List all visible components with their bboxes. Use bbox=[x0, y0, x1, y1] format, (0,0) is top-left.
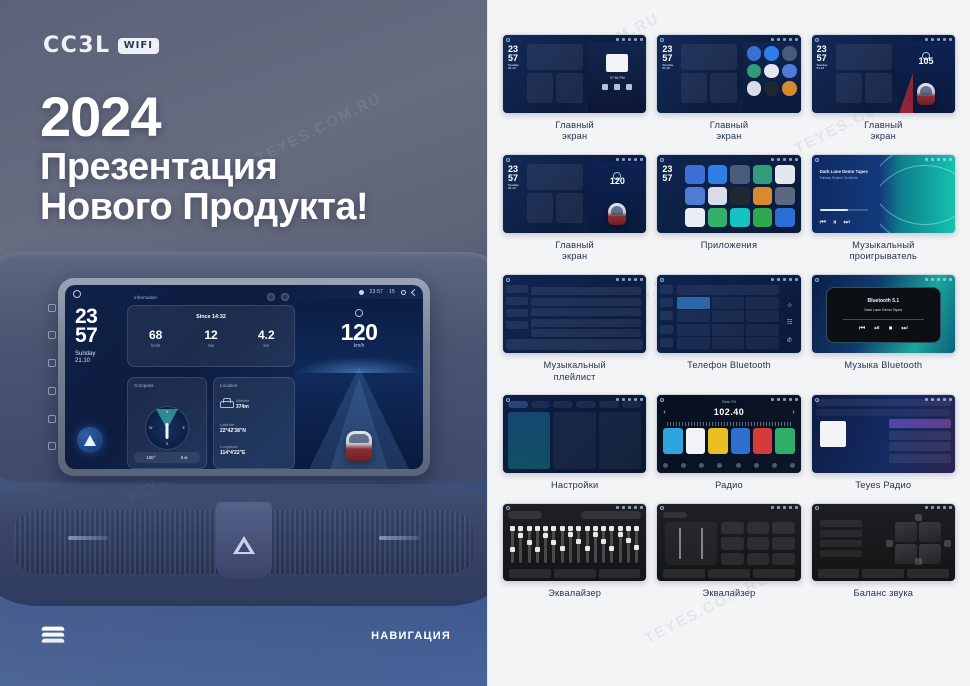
gear-icon[interactable] bbox=[943, 506, 946, 509]
eq-tab[interactable] bbox=[708, 569, 750, 578]
thumb-compass-card[interactable] bbox=[681, 73, 707, 103]
eq-preset-button[interactable] bbox=[747, 553, 769, 566]
thumb-caption: Музыка Bluetooth bbox=[844, 360, 922, 372]
location-altitude: Altitude 374m bbox=[236, 398, 289, 410]
eq-band-slider[interactable] bbox=[561, 526, 564, 564]
console-slot-left bbox=[68, 536, 108, 540]
eq-band-slider[interactable] bbox=[569, 526, 572, 564]
volume-icon bbox=[937, 506, 940, 509]
playlist-tab[interactable] bbox=[506, 297, 528, 305]
prev-icon[interactable]: ⏮ bbox=[820, 219, 826, 227]
radio-nav-icon[interactable] bbox=[699, 463, 704, 468]
eq-band-slider[interactable] bbox=[594, 526, 597, 564]
app-icon[interactable] bbox=[764, 46, 779, 61]
next-icon[interactable]: ⏭ bbox=[843, 219, 849, 227]
home-circle-icon[interactable] bbox=[660, 158, 664, 162]
back-arrow-icon[interactable] bbox=[795, 158, 798, 161]
settings-tab[interactable] bbox=[576, 401, 596, 408]
thumb-home-screen-hud[interactable]: 2357 Sunday21.10 105 bbox=[811, 34, 956, 114]
wifi-icon bbox=[925, 38, 928, 41]
home-circle-icon[interactable] bbox=[660, 506, 664, 510]
dialpad-key[interactable] bbox=[677, 297, 710, 309]
pause-icon[interactable]: ⏸ bbox=[833, 219, 837, 227]
playlist-row[interactable] bbox=[531, 319, 641, 327]
thumb-location-card[interactable] bbox=[556, 193, 583, 223]
hero-title-line1: Презентация bbox=[40, 148, 368, 188]
carplay-card[interactable] bbox=[553, 412, 595, 469]
app-icon[interactable] bbox=[708, 165, 727, 184]
dialpad-key[interactable] bbox=[712, 310, 745, 322]
app-icon[interactable] bbox=[782, 46, 797, 61]
thumb-sound-balance[interactable] bbox=[811, 503, 956, 583]
back-arrow-icon[interactable] bbox=[411, 288, 418, 295]
wifi-icon bbox=[771, 506, 774, 509]
eq-preset-button[interactable] bbox=[772, 553, 794, 566]
eq-preset-button[interactable] bbox=[721, 522, 743, 535]
thumb-hud-pane[interactable]: 105 bbox=[897, 42, 955, 113]
progress-bar[interactable] bbox=[843, 319, 924, 320]
back-arrow-icon[interactable] bbox=[795, 278, 798, 281]
visualizer-waves bbox=[880, 155, 955, 233]
eq-tab[interactable] bbox=[554, 569, 596, 578]
track-title: Dark Lane Demo Tapes bbox=[820, 169, 868, 174]
app-icon[interactable] bbox=[730, 208, 749, 227]
home-circle-icon[interactable] bbox=[660, 38, 664, 42]
dialpad[interactable] bbox=[677, 297, 778, 349]
refresh-icon[interactable] bbox=[267, 293, 275, 301]
thumb-location-card[interactable] bbox=[710, 73, 737, 103]
time-icon bbox=[931, 506, 934, 509]
teyes-filters[interactable] bbox=[816, 409, 951, 416]
thumb-info-card[interactable] bbox=[527, 164, 583, 190]
car-icon bbox=[917, 83, 935, 105]
time-icon bbox=[931, 38, 934, 41]
latitude-label: Latitude bbox=[220, 422, 234, 427]
balance-left-button[interactable] bbox=[886, 540, 893, 547]
phone-sidebar[interactable] bbox=[660, 283, 673, 349]
balance-preset-row[interactable] bbox=[820, 550, 862, 557]
home-circle-icon[interactable] bbox=[506, 278, 510, 282]
playlist-row[interactable] bbox=[531, 329, 641, 337]
media-controls[interactable] bbox=[588, 84, 646, 90]
volume-icon bbox=[783, 158, 786, 161]
radio-preset[interactable] bbox=[663, 428, 682, 454]
dialpad-key[interactable] bbox=[712, 297, 745, 309]
wifi-card[interactable] bbox=[508, 412, 550, 469]
since-label: Since 14:32 bbox=[128, 314, 294, 320]
seat-rear-right[interactable] bbox=[919, 544, 941, 564]
gear-icon[interactable] bbox=[634, 506, 637, 509]
gear-icon[interactable] bbox=[943, 278, 946, 281]
playlist-row[interactable] bbox=[531, 298, 641, 306]
eq-band-slider[interactable] bbox=[544, 526, 547, 564]
eq-dual-sliders[interactable] bbox=[665, 522, 717, 566]
balance-tab[interactable] bbox=[907, 569, 949, 578]
dialpad-key[interactable] bbox=[746, 324, 779, 336]
eq-preset-button[interactable] bbox=[721, 553, 743, 566]
back-arrow-icon[interactable] bbox=[949, 506, 952, 509]
app-icon[interactable] bbox=[747, 46, 762, 61]
stop-icon[interactable]: ⏹ bbox=[889, 325, 893, 333]
seat-rear-left[interactable] bbox=[895, 544, 917, 564]
radio-nav-icon[interactable] bbox=[772, 463, 777, 468]
back-arrow-icon[interactable] bbox=[795, 506, 798, 509]
thumb-home-screen-media[interactable]: 2357 Sunday21.10 07:50 PM bbox=[502, 34, 647, 114]
thumb-nav-pane[interactable]: 120 bbox=[588, 162, 646, 233]
app-icon[interactable] bbox=[747, 81, 762, 96]
app-icon[interactable] bbox=[775, 208, 794, 227]
home-circle-icon[interactable] bbox=[506, 506, 510, 510]
thumb-teyes-radio[interactable] bbox=[811, 394, 956, 474]
back-arrow-icon[interactable] bbox=[640, 506, 643, 509]
contacts-icon[interactable]: ☷ bbox=[787, 319, 792, 326]
teyes-station-list[interactable] bbox=[889, 419, 951, 463]
longitude-value: 114°4'22"E bbox=[220, 450, 289, 456]
settings-tab[interactable] bbox=[553, 401, 573, 408]
balance-preset-row[interactable] bbox=[820, 520, 862, 527]
thumb-equalizer-bands[interactable] bbox=[502, 503, 647, 583]
thumb-status-bar bbox=[771, 277, 798, 281]
app-icon[interactable] bbox=[764, 81, 779, 96]
settings-tab[interactable] bbox=[622, 401, 642, 408]
thumb-caption: Музыкальный проигрыватель bbox=[850, 240, 918, 263]
dialpad-key[interactable] bbox=[746, 337, 779, 349]
home-circle-icon[interactable] bbox=[660, 278, 664, 282]
eq-footer-tabs[interactable] bbox=[509, 569, 640, 578]
eq-preset-button[interactable] bbox=[721, 537, 743, 550]
eq-band-group[interactable] bbox=[511, 526, 638, 564]
navigation-arrow-icon[interactable] bbox=[77, 427, 103, 453]
expand-icon[interactable] bbox=[281, 293, 289, 301]
back-arrow-icon[interactable] bbox=[795, 38, 798, 41]
app-icon[interactable] bbox=[685, 165, 704, 184]
wifi-icon bbox=[616, 278, 619, 281]
side-key-home-icon[interactable] bbox=[48, 359, 56, 367]
eq-band-slider[interactable] bbox=[602, 526, 605, 564]
radio-preset[interactable] bbox=[731, 428, 750, 454]
playlist-sidebar[interactable] bbox=[506, 285, 528, 329]
time-icon bbox=[622, 158, 625, 161]
eq-band-slider[interactable] bbox=[627, 526, 630, 564]
gear-icon[interactable] bbox=[789, 506, 792, 509]
station-row[interactable] bbox=[889, 442, 951, 451]
app-icon[interactable] bbox=[730, 165, 749, 184]
app-icon[interactable] bbox=[764, 64, 779, 79]
dialpad-key[interactable] bbox=[677, 310, 710, 322]
eq-preset-button[interactable] bbox=[772, 522, 794, 535]
thumb-music-playlist[interactable] bbox=[502, 274, 647, 354]
eq-band-slider[interactable] bbox=[635, 526, 638, 564]
gear-icon[interactable] bbox=[634, 158, 637, 161]
thumb-caption: Teyes Радио bbox=[855, 480, 911, 492]
information-card[interactable]: Information Since 14:32 68 km/h bbox=[127, 305, 295, 367]
app-icon[interactable] bbox=[685, 208, 704, 227]
radio-toolbar[interactable] bbox=[663, 462, 794, 470]
radio-preset[interactable] bbox=[753, 428, 772, 454]
progress-bar[interactable] bbox=[820, 209, 868, 211]
playlist-row[interactable] bbox=[531, 308, 641, 316]
thumb-compass-card[interactable] bbox=[527, 73, 553, 103]
dial-field[interactable] bbox=[677, 285, 778, 295]
gallery-cell: 2357 Приложения bbox=[656, 154, 801, 263]
eq-preset-button[interactable] bbox=[747, 537, 769, 550]
app-icon[interactable] bbox=[775, 165, 794, 184]
home-circle-icon[interactable] bbox=[815, 38, 819, 42]
station-row[interactable] bbox=[889, 431, 951, 440]
app-icon[interactable] bbox=[782, 81, 797, 96]
play-pause-icon[interactable]: ⏯ bbox=[874, 325, 880, 333]
dialpad-key[interactable] bbox=[677, 337, 710, 349]
thumb-caption: Радио bbox=[715, 480, 743, 492]
home-circle-icon[interactable] bbox=[815, 158, 819, 162]
radio-nav-icon[interactable] bbox=[736, 463, 741, 468]
eq-title bbox=[663, 512, 687, 518]
compass-card[interactable]: Compass N E S W 180° 5 м bbox=[127, 377, 207, 469]
location-card[interactable]: Location Altitude 374m Latitude 22°42'38… bbox=[213, 377, 295, 469]
wifi-icon bbox=[771, 158, 774, 161]
balance-footer-tabs[interactable] bbox=[818, 569, 949, 578]
gear-icon[interactable] bbox=[634, 278, 637, 281]
dialpad-key[interactable] bbox=[746, 297, 779, 309]
app-icon[interactable] bbox=[775, 187, 794, 206]
seat-front-left[interactable] bbox=[895, 522, 917, 542]
navigation-pane[interactable]: 120 km/h bbox=[295, 299, 423, 469]
settings-tabs[interactable] bbox=[508, 401, 641, 408]
gear-icon[interactable] bbox=[789, 158, 792, 161]
back-arrow-icon[interactable] bbox=[949, 278, 952, 281]
back-arrow-icon[interactable] bbox=[640, 38, 643, 41]
side-key-volume-down-icon[interactable] bbox=[48, 415, 56, 423]
app-drawer-grid[interactable] bbox=[683, 163, 796, 229]
thumb-music-player[interactable]: Dark Lane Demo Tapes Subway Scratch Orch… bbox=[811, 154, 956, 234]
console-slot-right bbox=[379, 536, 419, 540]
eq-preset-button[interactable] bbox=[747, 522, 769, 535]
thumb-equalizer-presets[interactable] bbox=[656, 503, 801, 583]
radio-nav-icon[interactable] bbox=[790, 463, 795, 468]
phone-tab[interactable] bbox=[660, 325, 673, 334]
settings-tab[interactable] bbox=[508, 401, 528, 408]
thumb-home-screen-nav[interactable]: 2357 Sunday21.10 120 bbox=[502, 154, 647, 234]
gallery-cell: Эквалайзер bbox=[656, 503, 801, 600]
status-volume: 15 bbox=[389, 289, 395, 295]
balance-right-button[interactable] bbox=[944, 540, 951, 547]
thumb-caption: Главный экран bbox=[555, 240, 593, 263]
volume-icon bbox=[628, 278, 631, 281]
eq-preset-button[interactable] bbox=[772, 537, 794, 550]
eq-band-slider[interactable] bbox=[610, 526, 613, 564]
hazard-button[interactable] bbox=[216, 502, 272, 578]
phone-tab[interactable] bbox=[660, 285, 673, 294]
radio-nav-icon[interactable] bbox=[663, 463, 668, 468]
eq-band-slider[interactable] bbox=[552, 526, 555, 564]
playlist-tab[interactable] bbox=[506, 285, 528, 293]
home-circle-icon[interactable] bbox=[73, 290, 81, 298]
playlist-player-bar[interactable] bbox=[506, 339, 643, 350]
back-arrow-icon[interactable] bbox=[949, 38, 952, 41]
information-card-actions[interactable] bbox=[267, 293, 289, 301]
thumb-speed-value: 120 bbox=[588, 176, 646, 186]
head-unit-side-keys[interactable] bbox=[46, 284, 58, 470]
next-station-icon[interactable]: › bbox=[792, 409, 794, 416]
app-icon[interactable] bbox=[708, 208, 727, 227]
prev-icon[interactable] bbox=[602, 84, 608, 90]
gear-icon[interactable] bbox=[943, 38, 946, 41]
app-icon[interactable] bbox=[753, 208, 772, 227]
call-icon[interactable]: ✆ bbox=[787, 337, 792, 344]
gallery-cell: Настройки bbox=[502, 394, 647, 491]
eq-footer-tabs[interactable] bbox=[663, 569, 794, 578]
eq-tab[interactable] bbox=[509, 569, 551, 578]
gallery-cell: 2357 Sunday21.10 07:50 PM Главный экран bbox=[502, 34, 647, 143]
playlist-tab[interactable] bbox=[506, 309, 528, 317]
home-circle-icon[interactable] bbox=[815, 506, 819, 510]
balance-preset-list[interactable] bbox=[820, 520, 862, 557]
side-key-menu-icon[interactable] bbox=[48, 304, 56, 312]
playlist-tab[interactable] bbox=[506, 321, 528, 329]
clock-widget: 23 57 Sunday 21.10 bbox=[75, 307, 97, 366]
balance-preset-row[interactable] bbox=[820, 540, 862, 547]
thumb-bluetooth-music[interactable]: Bluetooth 5.1 Dark Lane Demo Tapes ⏮⏯⏹⏭ bbox=[811, 274, 956, 354]
teyes-tabs[interactable] bbox=[816, 399, 951, 406]
wifi-icon bbox=[771, 278, 774, 281]
thumb-home-screen-apps[interactable]: 2357 Sunday21.10 bbox=[656, 34, 801, 114]
station-row[interactable] bbox=[889, 419, 951, 428]
dialpad-key[interactable] bbox=[746, 310, 779, 322]
app-icon[interactable] bbox=[685, 187, 704, 206]
thumb-media-widget[interactable]: 07:50 PM bbox=[588, 42, 646, 113]
more-card[interactable] bbox=[599, 412, 641, 469]
phone-tab[interactable] bbox=[660, 298, 673, 307]
app-icon[interactable] bbox=[730, 187, 749, 206]
balance-up-button[interactable] bbox=[915, 514, 922, 521]
dialpad-key[interactable] bbox=[712, 337, 745, 349]
gear-icon[interactable] bbox=[789, 38, 792, 41]
thumb-settings[interactable] bbox=[502, 394, 647, 474]
eq-band-slider[interactable] bbox=[577, 526, 580, 564]
eq-preset-grid[interactable] bbox=[721, 522, 794, 566]
side-key-back-icon[interactable] bbox=[48, 387, 56, 395]
app-icon[interactable] bbox=[753, 165, 772, 184]
volume-icon bbox=[783, 506, 786, 509]
eq-band-slider[interactable] bbox=[536, 526, 539, 564]
phone-tab[interactable] bbox=[660, 311, 673, 320]
app-icon[interactable] bbox=[753, 187, 772, 206]
center-console bbox=[0, 484, 487, 606]
app-icon[interactable] bbox=[747, 64, 762, 79]
gear-icon[interactable] bbox=[634, 38, 637, 41]
phone-actions[interactable]: ☆☷✆ bbox=[782, 297, 798, 349]
thumb-location-card[interactable] bbox=[865, 73, 892, 103]
favorite-icon[interactable]: ☆ bbox=[787, 302, 792, 309]
radio-nav-icon[interactable] bbox=[754, 463, 759, 468]
thumb-info-card[interactable] bbox=[681, 44, 737, 70]
radio-nav-icon[interactable] bbox=[717, 463, 722, 468]
home-circle-icon[interactable] bbox=[506, 38, 510, 42]
settings-tab[interactable] bbox=[599, 401, 619, 408]
eq-tab[interactable] bbox=[753, 569, 795, 578]
playback-controls[interactable]: ⏮⏯⏹⏭ bbox=[827, 325, 940, 333]
balance-tab[interactable] bbox=[818, 569, 860, 578]
gear-icon[interactable] bbox=[401, 290, 406, 295]
thumb-radio[interactable]: Radio FM 102.40 ‹ › bbox=[656, 394, 801, 474]
eq-preset-tabs[interactable] bbox=[581, 511, 641, 519]
eq-band-slider[interactable] bbox=[586, 526, 589, 564]
radio-presets[interactable] bbox=[663, 428, 794, 454]
thumb-caption: Эквалайзер bbox=[548, 588, 601, 600]
settings-tab[interactable] bbox=[531, 401, 551, 408]
eq-tab[interactable] bbox=[663, 569, 705, 578]
tuning-scale[interactable] bbox=[667, 422, 790, 426]
balance-preset-row[interactable] bbox=[820, 530, 862, 537]
eq-band-slider[interactable] bbox=[519, 526, 522, 564]
radio-preset[interactable] bbox=[775, 428, 794, 454]
home-circle-icon[interactable] bbox=[815, 278, 819, 282]
back-arrow-icon[interactable] bbox=[640, 278, 643, 281]
settings-cards[interactable] bbox=[508, 412, 641, 469]
station-row[interactable] bbox=[889, 454, 951, 463]
status-bar: 23:57 15 bbox=[359, 289, 417, 295]
car-dashboard-photo: 23:57 15 23 57 Sunday 21.10 bbox=[0, 268, 487, 686]
balance-down-button[interactable] bbox=[915, 558, 922, 565]
gallery-cell: Музыкальный плейлист bbox=[502, 274, 647, 383]
thumb-bluetooth-phone[interactable]: ☆☷✆ bbox=[656, 274, 801, 354]
dialpad-key[interactable] bbox=[712, 324, 745, 336]
balance-seat-grid[interactable] bbox=[895, 522, 941, 564]
playlist-row[interactable] bbox=[531, 287, 641, 295]
thumb-info-card[interactable] bbox=[527, 44, 583, 70]
phone-tab[interactable] bbox=[660, 338, 673, 347]
radio-nav-icon[interactable] bbox=[681, 463, 686, 468]
seat-front-right[interactable] bbox=[919, 522, 941, 542]
altitude-label: Altitude bbox=[236, 398, 249, 403]
prev-icon[interactable]: ⏮ bbox=[859, 325, 865, 333]
pause-icon[interactable] bbox=[614, 84, 620, 90]
playback-controls[interactable]: ⏮⏸⏭ bbox=[820, 219, 850, 227]
side-key-volume-up-icon[interactable] bbox=[48, 442, 56, 450]
thumb-info-card[interactable] bbox=[836, 44, 892, 70]
side-key-power-icon[interactable] bbox=[48, 331, 56, 339]
eq-band-slider[interactable] bbox=[528, 526, 531, 564]
eq-band-slider[interactable] bbox=[511, 526, 514, 564]
app-icon[interactable] bbox=[782, 64, 797, 79]
prev-station-icon[interactable]: ‹ bbox=[663, 409, 665, 416]
thumb-caption: Главный экран bbox=[864, 120, 902, 143]
balance-tab[interactable] bbox=[862, 569, 904, 578]
next-icon[interactable]: ⏭ bbox=[901, 325, 907, 333]
playlist-rows[interactable] bbox=[531, 287, 641, 337]
radio-preset[interactable] bbox=[686, 428, 705, 454]
next-icon[interactable] bbox=[626, 84, 632, 90]
eq-preset-label[interactable] bbox=[508, 511, 542, 519]
head-unit-screen[interactable]: 23:57 15 23 57 Sunday 21.10 bbox=[65, 285, 423, 469]
gear-icon[interactable] bbox=[789, 278, 792, 281]
dialpad-key[interactable] bbox=[677, 324, 710, 336]
thumb-compass-card[interactable] bbox=[527, 193, 553, 223]
hero-title-line2: Нового Продукта! bbox=[40, 188, 368, 228]
eq-tab[interactable] bbox=[599, 569, 641, 578]
product-logo: CC3L WIFI bbox=[43, 33, 159, 58]
thumb-location-card[interactable] bbox=[556, 73, 583, 103]
thumb-applications[interactable]: 2357 bbox=[656, 154, 801, 234]
thumb-app-shortcuts[interactable] bbox=[743, 42, 801, 113]
compass-dir-w: W bbox=[149, 426, 152, 430]
thumb-compass-card[interactable] bbox=[836, 73, 862, 103]
radio-preset[interactable] bbox=[708, 428, 727, 454]
back-arrow-icon[interactable] bbox=[640, 158, 643, 161]
app-icon[interactable] bbox=[708, 187, 727, 206]
eq-band-slider[interactable] bbox=[619, 526, 622, 564]
home-circle-icon[interactable] bbox=[506, 158, 510, 162]
